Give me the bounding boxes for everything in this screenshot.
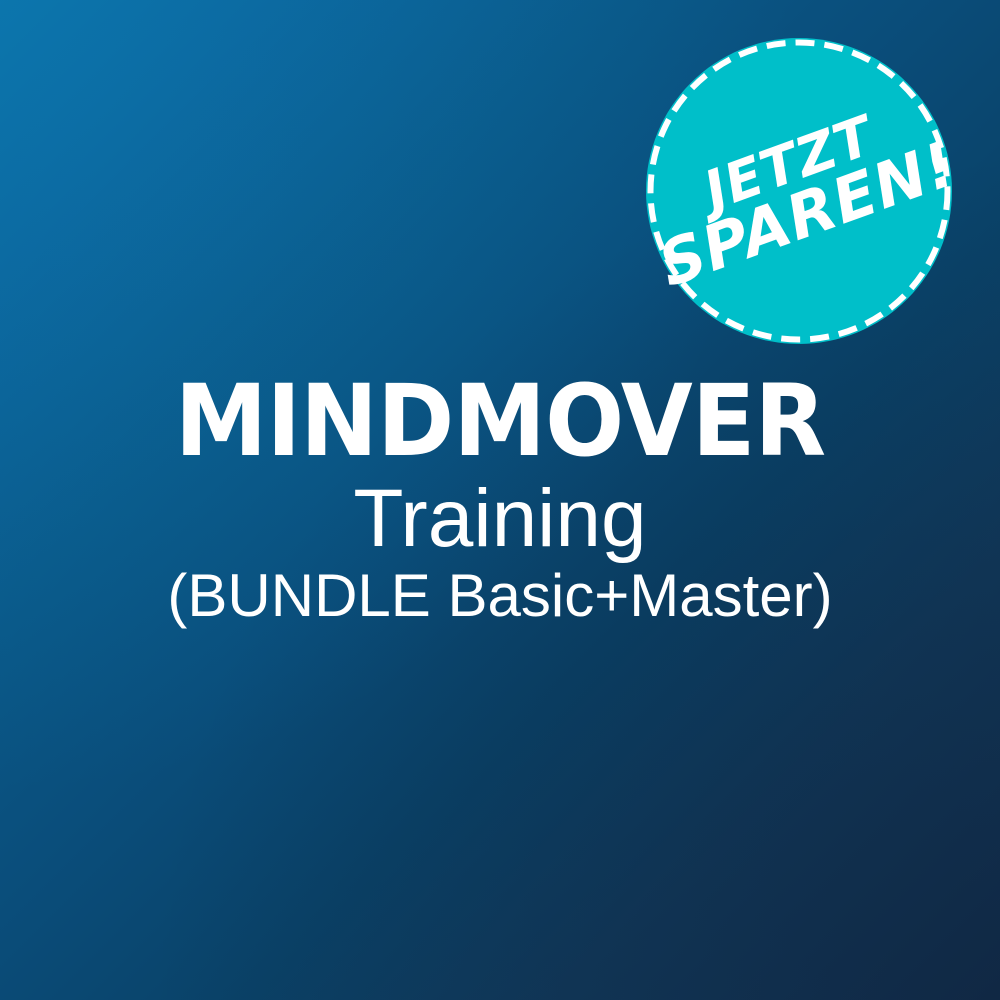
promo-badge[interactable]: JETZT SPAREN!: [646, 38, 952, 344]
promo-banner: JETZT SPAREN! MINDMOVER Training (BUNDLE…: [0, 0, 1000, 1000]
product-variant-label: (BUNDLE Basic+Master): [0, 565, 1000, 627]
headline-block: MINDMOVER Training (BUNDLE Basic+Master): [0, 372, 1000, 627]
page-title: MINDMOVER: [30, 372, 970, 471]
product-subtitle: Training: [0, 477, 1000, 561]
promo-badge-text: JETZT SPAREN!: [603, 0, 995, 387]
